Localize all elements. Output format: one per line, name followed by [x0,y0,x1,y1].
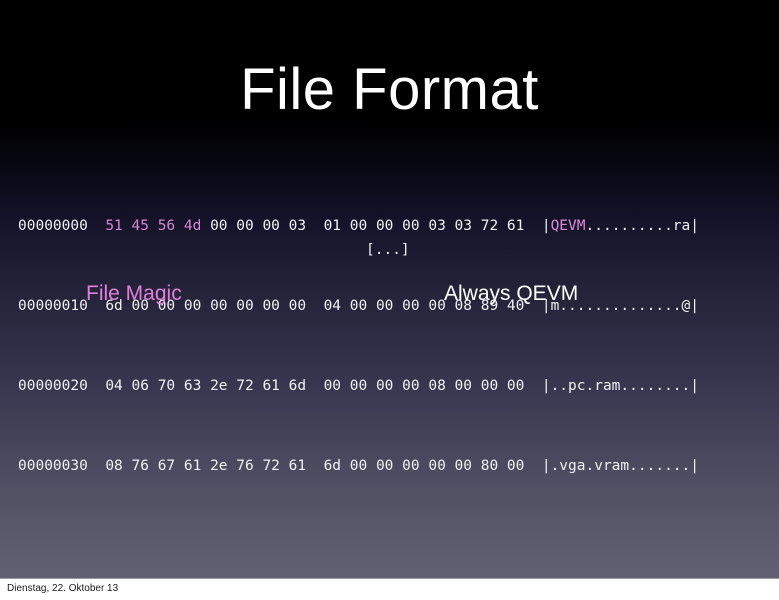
hexdump-offset: 00000010 [18,298,88,314]
hexdump-gap [306,218,323,234]
hexdump-bytes-group2: 6d 00 00 00 00 00 80 00 [324,458,525,474]
annotation-file-magic: File Magic [86,281,182,307]
hexdump-magic-bytes: 51 45 56 4d [105,218,201,234]
hexdump-row: 00000000 51 45 56 4d 00 00 00 03 01 00 0… [18,216,699,236]
hexdump-ascii-open: | [542,458,551,474]
hexdump-bytes-group1: 04 06 70 63 2e 72 61 6d [105,378,306,394]
hexdump-ascii-rest: ..pc.ram........ [551,378,691,394]
hexdump-bytes-group2: 01 00 00 00 03 03 72 61 [324,218,525,234]
hexdump-ascii-close: | [690,378,699,394]
hexdump-offset: 00000030 [18,458,88,474]
hexdump-bytes-group1: 08 76 67 61 2e 76 72 61 [105,458,306,474]
hexdump-offset: 00000000 [18,218,88,234]
hexdump-row: 00000030 08 76 67 61 2e 76 72 61 6d 00 0… [18,456,699,476]
hexdump-ascii-rest: ..........ra [586,218,691,234]
slide-canvas: File Format 00000000 51 45 56 4d 00 00 0… [0,0,779,578]
hexdump-gap [88,218,105,234]
hexdump-gap [201,218,210,234]
annotation-always-qevm: Always QEVM [444,281,578,307]
hexdump-gap [88,458,105,474]
hexdump-ascii-close: | [690,458,699,474]
hexdump-ascii-open: | [542,378,551,394]
hexdump-ascii-open: | [542,218,551,234]
hexdump-bytes-group1: 00 00 00 03 [210,218,306,234]
hexdump-offset: 00000020 [18,378,88,394]
hexdump-block: 00000000 51 45 56 4d 00 00 00 03 01 00 0… [18,156,699,536]
hexdump-gap [306,378,323,394]
hexdump-gap [524,458,541,474]
hexdump-gap [524,378,541,394]
hexdump-ascii-magic: QEVM [551,218,586,234]
hexdump-ascii-close: | [690,218,699,234]
hexdump-gap [306,298,323,314]
page-title: File Format [0,58,779,122]
hexdump-gap [306,458,323,474]
hexdump-ascii-close: | [690,298,699,314]
hexdump-bytes-group2: 00 00 00 00 08 00 00 00 [324,378,525,394]
hexdump-gap [88,378,105,394]
hexdump-ascii-rest: .vga.vram....... [551,458,691,474]
hexdump-gap [524,218,541,234]
footer-date: Dienstag, 22. Oktober 13 [7,583,118,594]
hexdump-row: 00000020 04 06 70 63 2e 72 61 6d 00 00 0… [18,376,699,396]
hexdump-continuation-marker: [...] [366,240,410,260]
